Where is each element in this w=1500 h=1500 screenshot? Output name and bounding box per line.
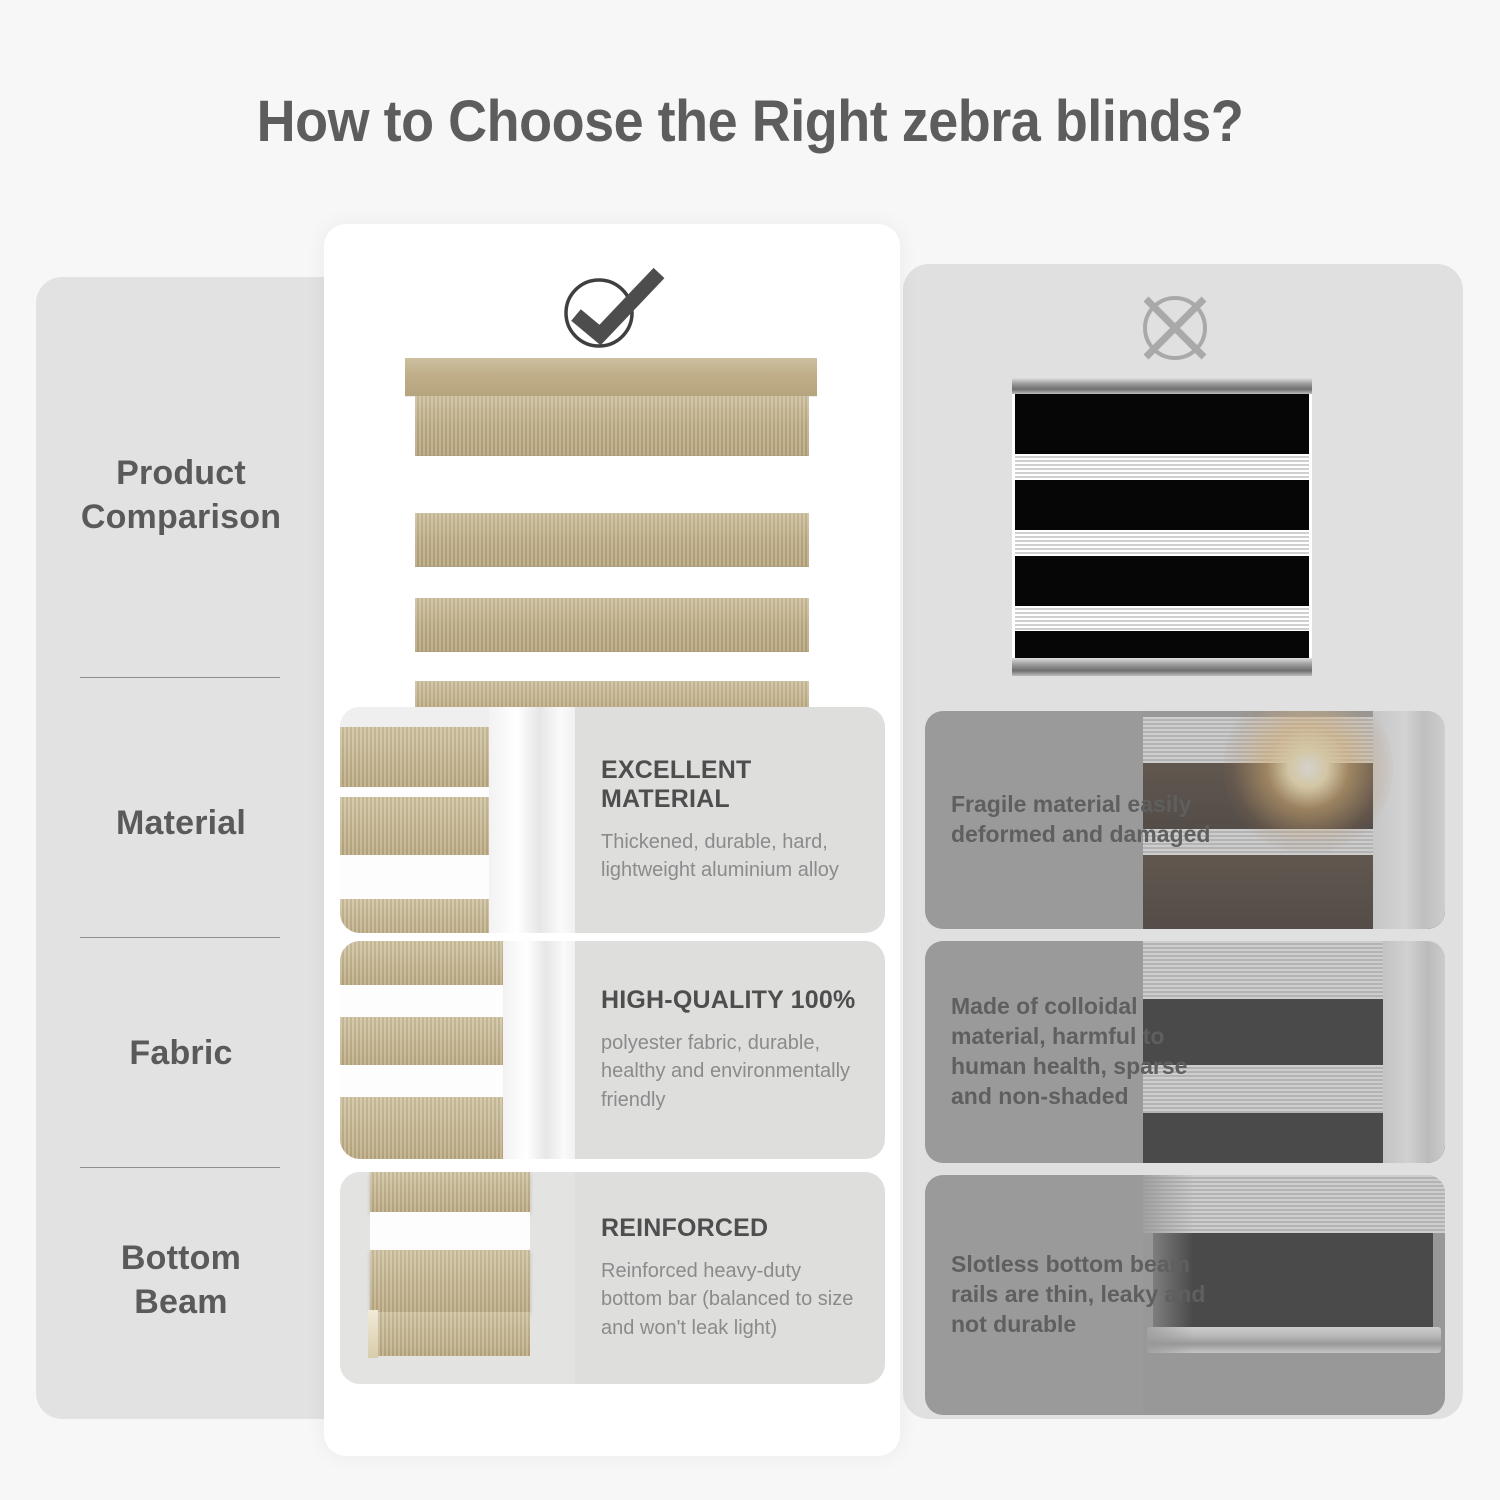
page-title: How to Choose the Right zebra blinds? — [53, 88, 1448, 155]
rail-divider-3 — [80, 1167, 280, 1168]
good-card-fabric-body: polyester fabric, durable, healthy and e… — [601, 1029, 863, 1114]
bad-card-material-copy: Fragile material easily deformed and dam… — [951, 711, 1211, 929]
blind-slat — [415, 513, 809, 567]
bottom-bar — [1012, 658, 1312, 676]
blind-opaque-band — [1015, 556, 1309, 606]
bad-product-image — [1012, 378, 1312, 676]
bad-card-bottom-beam-body: Slotless bottom beam rails are thin, lea… — [951, 1250, 1211, 1340]
cross-circle-icon — [1135, 288, 1215, 368]
blind-opaque-band — [1015, 480, 1309, 530]
good-card-fabric-heading: HIGH-QUALITY 100% — [601, 986, 863, 1015]
bad-card-fabric-copy: Made of colloidal material, harmful to h… — [951, 941, 1211, 1163]
rail-divider-2 — [80, 937, 280, 938]
bad-card-bottom-beam-copy: Slotless bottom beam rails are thin, lea… — [951, 1175, 1211, 1415]
good-card-material-body: Thickened, durable, hard, lightweight al… — [601, 828, 863, 885]
good-product-image — [405, 358, 817, 698]
good-card-material[interactable]: EXCELLENT MATERIAL Thickened, durable, h… — [340, 707, 885, 933]
check-circle-icon — [556, 265, 666, 355]
bad-card-fabric-body: Made of colloidal material, harmful to h… — [951, 992, 1211, 1112]
bad-card-material-body: Fragile material easily deformed and dam… — [951, 790, 1211, 850]
rail-label-product-comparison: Product Comparison — [36, 452, 326, 539]
blind-sheer-band — [1015, 530, 1309, 556]
rail-label-line: Material — [116, 804, 246, 842]
good-card-material-heading: EXCELLENT MATERIAL — [601, 756, 863, 814]
bad-card-fabric[interactable]: Made of colloidal material, harmful to h… — [925, 941, 1445, 1163]
blind-opaque-band — [1015, 394, 1309, 454]
blind-opaque-band — [1015, 631, 1309, 658]
good-card-bottom-beam[interactable]: REINFORCED Reinforced heavy-duty bottom … — [340, 1172, 885, 1384]
rail-label-fabric: Fabric — [36, 1032, 326, 1076]
rail-divider-1 — [80, 677, 280, 678]
bad-card-bottom-beam[interactable]: Slotless bottom beam rails are thin, lea… — [925, 1175, 1445, 1415]
good-card-bottom-beam-copy: REINFORCED Reinforced heavy-duty bottom … — [575, 1172, 885, 1384]
rail-label-line: Fabric — [129, 1034, 232, 1072]
category-rail: Product Comparison Material Fabric Botto… — [36, 277, 326, 1419]
rail-label-line: Product Comparison — [81, 454, 281, 536]
good-card-bottom-beam-photo — [340, 1172, 575, 1384]
headrail — [405, 358, 817, 396]
bad-card-material[interactable]: Fragile material easily deformed and dam… — [925, 711, 1445, 929]
rail-label-bottom-beam: Bottom Beam — [36, 1237, 326, 1324]
blind-slat — [415, 598, 809, 652]
blind-sheer-band — [1015, 606, 1309, 631]
blind-slat — [415, 396, 809, 456]
good-card-material-copy: EXCELLENT MATERIAL Thickened, durable, h… — [575, 707, 885, 933]
headrail — [1012, 378, 1312, 394]
good-card-fabric[interactable]: HIGH-QUALITY 100% polyester fabric, dura… — [340, 941, 885, 1159]
good-card-bottom-beam-body: Reinforced heavy-duty bottom bar (balanc… — [601, 1257, 863, 1342]
rail-label-material: Material — [36, 802, 326, 846]
good-card-bottom-beam-heading: REINFORCED — [601, 1214, 863, 1243]
good-card-fabric-copy: HIGH-QUALITY 100% polyester fabric, dura… — [575, 941, 885, 1159]
blind-sheer-band — [1015, 454, 1309, 480]
good-card-fabric-photo — [340, 941, 575, 1159]
rail-label-line: Bottom Beam — [121, 1239, 241, 1321]
infographic-root: How to Choose the Right zebra blinds? Pr… — [0, 0, 1500, 1500]
good-card-material-photo — [340, 707, 575, 933]
